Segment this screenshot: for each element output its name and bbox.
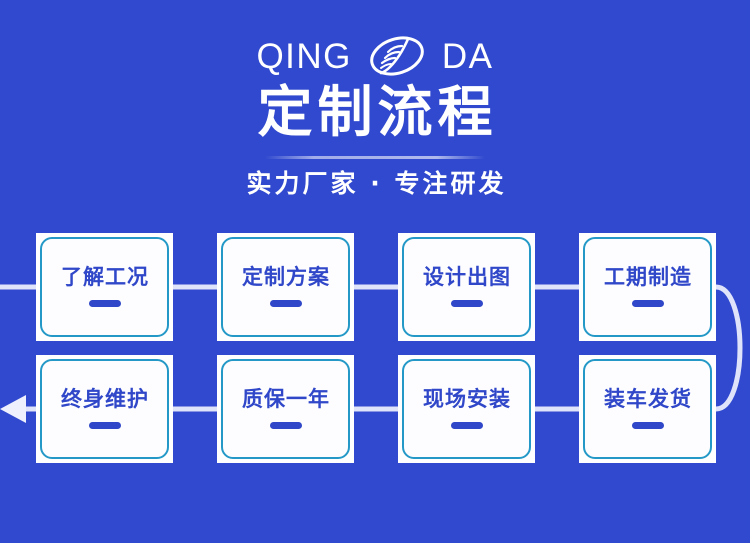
card-inner: 现场安装 [402, 359, 531, 459]
flow-card-one-year-warranty[interactable]: 质保一年 [217, 355, 354, 463]
flow-card-label: 设计出图 [422, 267, 511, 288]
flow-card-loading-shipment[interactable]: 装车发货 [579, 355, 716, 463]
title-divider [265, 156, 485, 159]
flow-card-manufacturing-schedule[interactable]: 工期制造 [579, 233, 716, 341]
card-dash [451, 422, 483, 429]
card-inner: 定制方案 [221, 237, 350, 337]
process-flow: 了解工况 定制方案 设计出图 工期制造 终身维护 [0, 225, 750, 543]
card-inner: 设计出图 [402, 237, 531, 337]
flow-card-custom-plan[interactable]: 定制方案 [217, 233, 354, 341]
leaf-logo-icon [368, 34, 426, 78]
card-dash [632, 300, 664, 307]
card-dash [89, 300, 121, 307]
flow-end-arrow-icon [0, 395, 26, 423]
header: QING DA 定制流程 实力厂家 · 专注研发 [0, 0, 750, 225]
page-title: 定制流程 [0, 83, 750, 142]
card-dash [632, 422, 664, 429]
flow-card-understand-conditions[interactable]: 了解工况 [36, 233, 173, 341]
card-inner: 终身维护 [40, 359, 169, 459]
flow-card-label: 定制方案 [241, 267, 330, 288]
card-dash [270, 422, 302, 429]
brand-row: QING DA [0, 28, 750, 84]
flow-card-label: 工期制造 [603, 267, 692, 288]
card-inner: 了解工况 [40, 237, 169, 337]
flow-card-design-drawing[interactable]: 设计出图 [398, 233, 535, 341]
card-inner: 装车发货 [583, 359, 712, 459]
poster-root: QING DA 定制流程 实力厂家 · 专注研发 [0, 0, 750, 543]
flow-card-label: 装车发货 [603, 389, 692, 410]
card-dash [89, 422, 121, 429]
page-subtitle: 实力厂家 · 专注研发 [0, 168, 750, 201]
card-dash [451, 300, 483, 307]
flow-card-label: 了解工况 [60, 267, 149, 288]
card-dash [270, 300, 302, 307]
flow-card-lifetime-maintenance[interactable]: 终身维护 [36, 355, 173, 463]
flow-card-label: 质保一年 [241, 389, 330, 410]
flow-card-label: 现场安装 [422, 389, 511, 410]
card-inner: 工期制造 [583, 237, 712, 337]
flow-card-onsite-installation[interactable]: 现场安装 [398, 355, 535, 463]
brand-left-text: QING [256, 39, 351, 74]
brand-right-text: DA [442, 39, 494, 74]
flow-card-label: 终身维护 [60, 389, 149, 410]
card-inner: 质保一年 [221, 359, 350, 459]
